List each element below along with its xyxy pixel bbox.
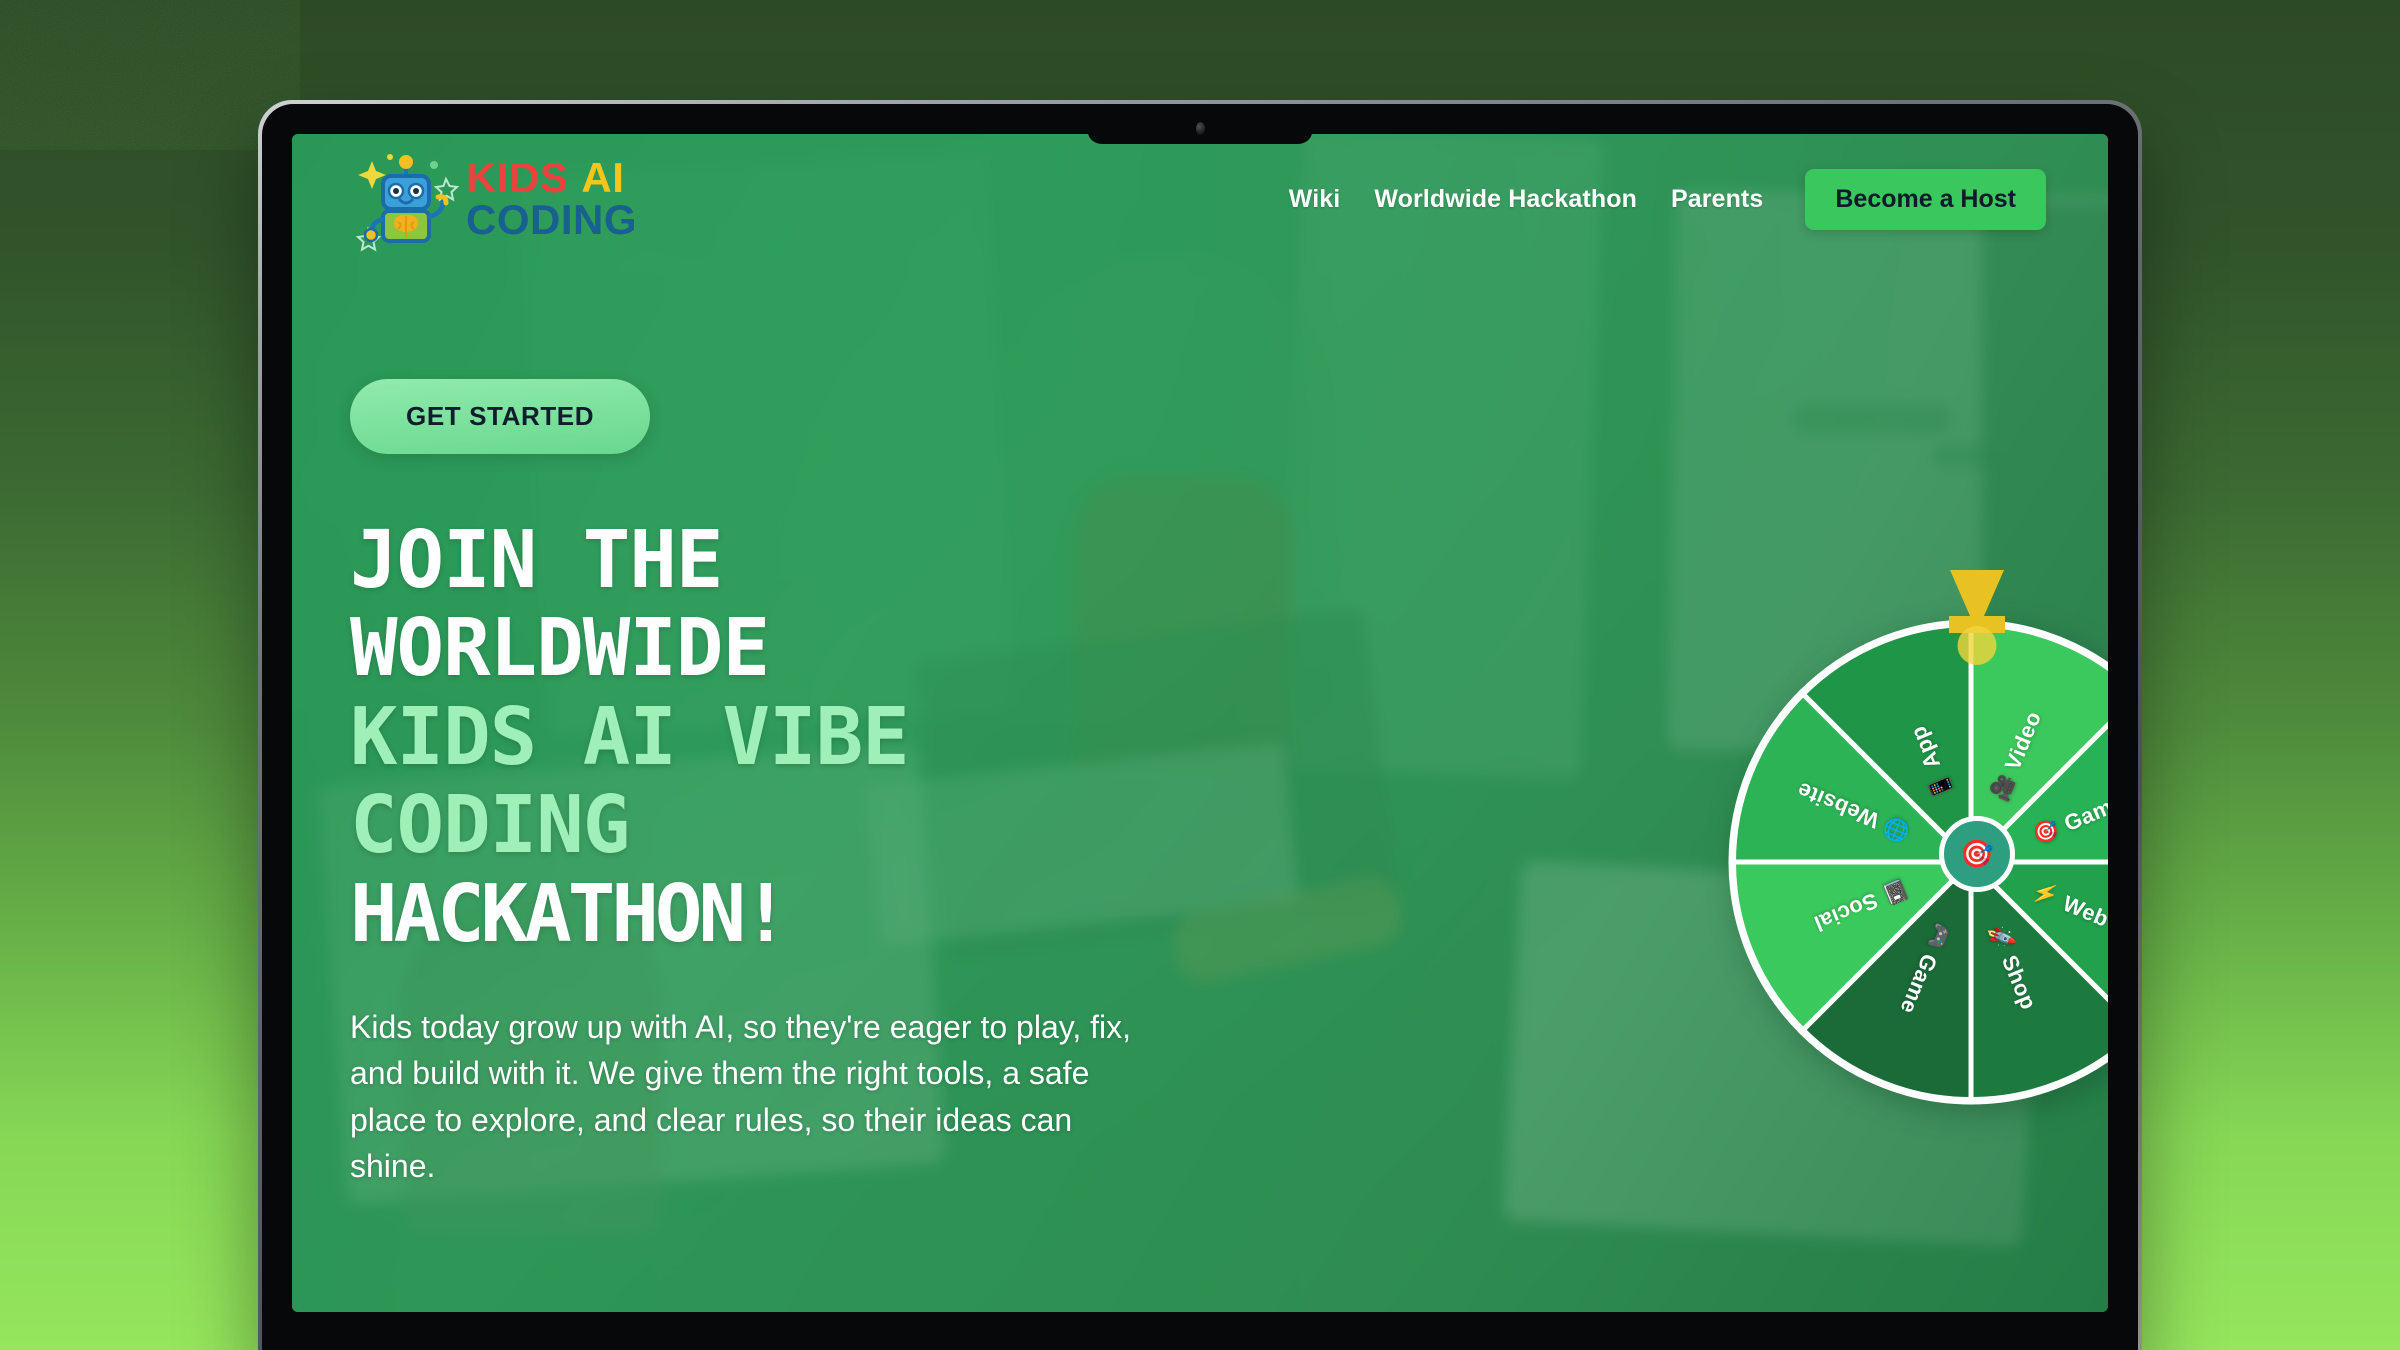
brand-wordmark: KIDS AI CODING <box>466 159 637 239</box>
wheel-segment-label: Shop <box>1996 952 2042 1014</box>
wheel-label-website: 🌐Website <box>1794 776 1914 846</box>
wheel-segment-emoji: 🎮 <box>1922 919 1954 953</box>
nav-link-parents[interactable]: Parents <box>1671 185 1763 214</box>
wheel-label-game: 🎯Game <box>2030 789 2108 850</box>
wheel-label-game: 🎮Game <box>1894 919 1955 1017</box>
headline-line-2: WORLDWIDE <box>350 604 1460 692</box>
hero-headline: JOIN THE WORLDWIDE KIDS AI VIBE CODING H… <box>350 516 1460 958</box>
wheel-segment-emoji: 🌐 <box>1880 813 1914 845</box>
main-navigation: Wiki Worldwide Hackathon Parents Become … <box>1289 169 2046 230</box>
camera-icon <box>1196 122 1205 135</box>
wheel-label-shop: 🚀Shop <box>1983 921 2041 1014</box>
hero-section: GET STARTED JOIN THE WORLDWIDE KIDS AI V… <box>350 379 1460 1189</box>
wheel-segment-emoji: 🎯 <box>2030 817 2064 849</box>
target-icon: 🎯 <box>1960 838 1994 870</box>
headline-line-5: HACKATHON! <box>350 870 1460 958</box>
wheel-segment-label: App <box>1905 722 1946 772</box>
laptop-bezel: KIDS AI CODING Wiki Worldwide Hackathon … <box>262 104 2138 1350</box>
laptop-mockup: KIDS AI CODING Wiki Worldwide Hackathon … <box>258 100 2142 1350</box>
logo-word-ai: AI <box>581 159 624 198</box>
hero-paragraph: Kids today grow up with AI, so they're e… <box>350 1004 1150 1188</box>
become-a-host-button[interactable]: Become a Host <box>1805 169 2046 230</box>
page-background: KIDS AI CODING Wiki Worldwide Hackathon … <box>0 0 2400 1350</box>
headline-line-4: CODING <box>350 781 1460 869</box>
wheel-labels: 🎮Game📓Social🌐Website📱App🎥Video🎯Game⚡Web … <box>1727 618 2108 1106</box>
wheel-label-social: 📓Social <box>1810 874 1912 936</box>
site-header: KIDS AI CODING Wiki Worldwide Hackathon … <box>292 134 2108 264</box>
headline-line-3: KIDS AI VIBE <box>350 693 1460 781</box>
background-noise-texture <box>0 0 300 150</box>
wheel-segment-label: Game <box>1894 950 1942 1018</box>
wheel-segment-label: Website <box>1794 776 1883 833</box>
robot-mascot-icon <box>350 143 462 255</box>
wheel-segment-label: Web App <box>2059 891 2108 952</box>
wheel-center-hub[interactable]: 🎯 <box>1939 816 2015 892</box>
wheel-segment-emoji: ⚡ <box>2028 879 2062 911</box>
brand-logo[interactable]: KIDS AI CODING <box>350 143 637 255</box>
logo-word-kids: KIDS <box>466 159 568 198</box>
wheel-segment-label: Game <box>2061 789 2108 837</box>
wheel-label-video: 🎥Video <box>1987 708 2047 805</box>
wheel-segment-emoji: 🎥 <box>1988 771 2020 805</box>
get-started-button[interactable]: GET STARTED <box>350 379 650 454</box>
nav-link-worldwide-hackathon[interactable]: Worldwide Hackathon <box>1374 185 1637 214</box>
headline-line-1: JOIN THE <box>350 516 1460 604</box>
wheel-segment-emoji: 📓 <box>1878 875 1912 907</box>
wheel-segment-label: Social <box>1810 887 1881 937</box>
wheel-pointer-icon <box>1950 570 2004 632</box>
wheel-segment-emoji: 🚀 <box>1984 921 2016 955</box>
wheel-segment-label: Video <box>2000 708 2047 774</box>
wheel-label-web-app: ⚡Web App <box>2028 878 2108 952</box>
wheel-label-app: 📱App <box>1905 722 1959 803</box>
logo-word-coding: CODING <box>466 201 637 240</box>
laptop-notch <box>1088 104 1313 144</box>
spin-wheel[interactable]: 🎮Game📓Social🌐Website📱App🎥Video🎯Game⚡Web … <box>1727 604 2108 1104</box>
wheel-segment-emoji: 📱 <box>1926 769 1958 803</box>
website-screen: KIDS AI CODING Wiki Worldwide Hackathon … <box>292 134 2108 1312</box>
nav-link-wiki[interactable]: Wiki <box>1289 185 1341 214</box>
